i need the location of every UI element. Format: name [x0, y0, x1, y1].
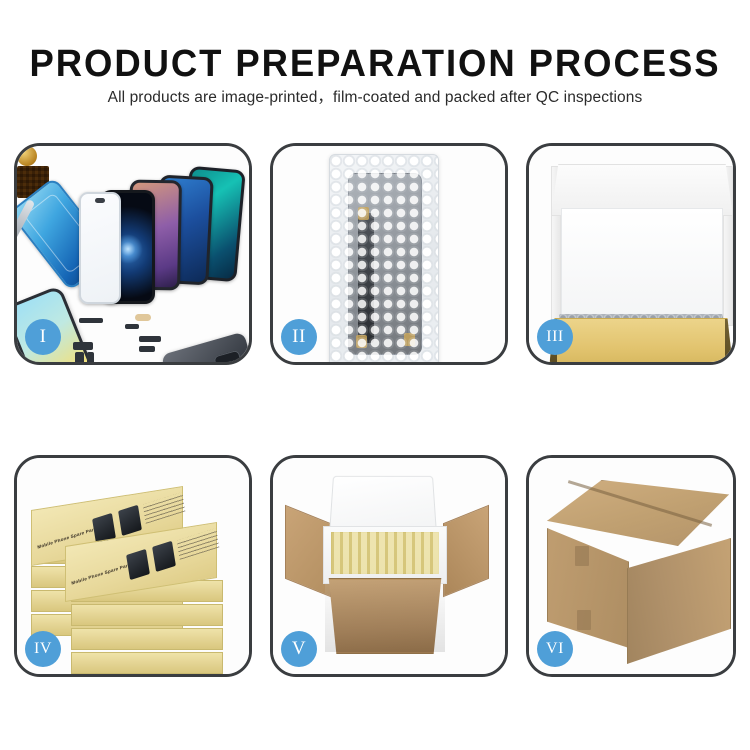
retail-boxes-rib-texture	[331, 532, 439, 574]
step-badge-4: IV	[25, 631, 61, 667]
speaker-part-icon	[17, 146, 37, 166]
part-bracket-2	[75, 352, 84, 362]
flex-cable	[358, 213, 374, 343]
part-bracket-1	[73, 342, 93, 350]
carton-flap-right	[443, 505, 489, 598]
part-strip-1	[79, 318, 103, 323]
box-art-screen-b	[152, 541, 176, 572]
step-badge-6: VI	[537, 631, 573, 667]
step-badge-2: II	[281, 319, 317, 355]
white-foam-sheet	[561, 208, 723, 318]
carton-tape-upper	[575, 546, 589, 566]
retail-box	[71, 604, 223, 626]
step-badge-5: V	[281, 631, 317, 667]
process-grid: I II	[0, 0, 750, 750]
box-art-text-lines	[143, 492, 186, 524]
part-strip-2	[125, 324, 139, 329]
retail-box	[71, 652, 223, 674]
connector-bottom-right	[404, 333, 415, 346]
carton-top-face	[547, 480, 729, 546]
part-flex-2	[139, 336, 161, 342]
carton-front-shading	[325, 580, 445, 652]
box-art-screen-a	[126, 549, 150, 580]
screen-protector	[79, 192, 121, 304]
process-step-4: Mobile Phone Spare Parts Mobile Phone Sp…	[14, 455, 252, 677]
back-housing	[161, 332, 249, 362]
connector-top	[358, 207, 369, 220]
process-step-3: III	[526, 143, 736, 365]
step-badge-1: I	[25, 319, 61, 355]
connector-bottom-left	[356, 335, 367, 348]
box-art-text-lines	[177, 528, 220, 560]
product-preparation-infographic: PRODUCT PREPARATION PROCESS All products…	[0, 0, 750, 750]
part-flex-3	[139, 346, 155, 352]
box-label-text: Mobile Phone Spare Parts	[71, 562, 133, 586]
kraft-inner-box	[549, 318, 733, 362]
step-badge-3: III	[537, 319, 573, 355]
process-step-5: V	[270, 455, 508, 677]
retail-box	[71, 628, 223, 650]
carton-right-face	[627, 538, 731, 664]
carton-tape-lower	[577, 610, 591, 630]
part-flex-1	[87, 352, 94, 362]
part-connector-1	[135, 314, 151, 321]
process-step-1: I	[14, 143, 252, 365]
process-step-6: VI	[526, 455, 736, 677]
bubble-wrap-bag	[329, 154, 439, 362]
process-step-2: II	[270, 143, 508, 365]
box-art-screen-b	[118, 505, 142, 536]
